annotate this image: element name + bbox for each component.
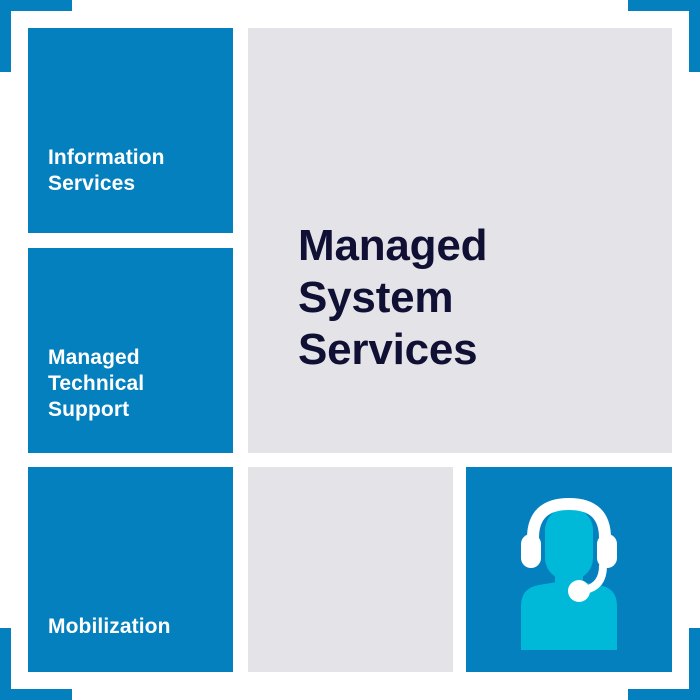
tile-mobilization[interactable]: Mobilization xyxy=(28,467,233,672)
bracket-arm-vertical xyxy=(689,0,700,72)
support-agent-headset-icon xyxy=(499,490,639,650)
tile-label-mobilization: Mobilization xyxy=(48,614,219,640)
bracket-arm-vertical xyxy=(0,628,11,700)
bracket-arm-horizontal xyxy=(0,689,72,700)
bracket-arm-horizontal xyxy=(628,0,700,11)
tile-label-managed-technical-support: Managed Technical Support xyxy=(48,345,219,423)
tile-managed-system-services: Managed System Services xyxy=(248,28,672,453)
managed-system-services-infographic: Information Services Managed Technical S… xyxy=(0,0,700,700)
tile-support-icon xyxy=(466,467,672,672)
bracket-arm-vertical xyxy=(689,628,700,700)
page-title: Managed System Services xyxy=(298,220,487,376)
tile-label-information-services: Information Services xyxy=(48,145,219,197)
tile-managed-technical-support[interactable]: Managed Technical Support xyxy=(28,248,233,453)
tile-bottom-middle-spacer xyxy=(248,467,453,672)
bracket-arm-horizontal xyxy=(628,689,700,700)
bracket-arm-vertical xyxy=(0,0,11,72)
tile-information-services[interactable]: Information Services xyxy=(28,28,233,233)
bracket-arm-horizontal xyxy=(0,0,72,11)
